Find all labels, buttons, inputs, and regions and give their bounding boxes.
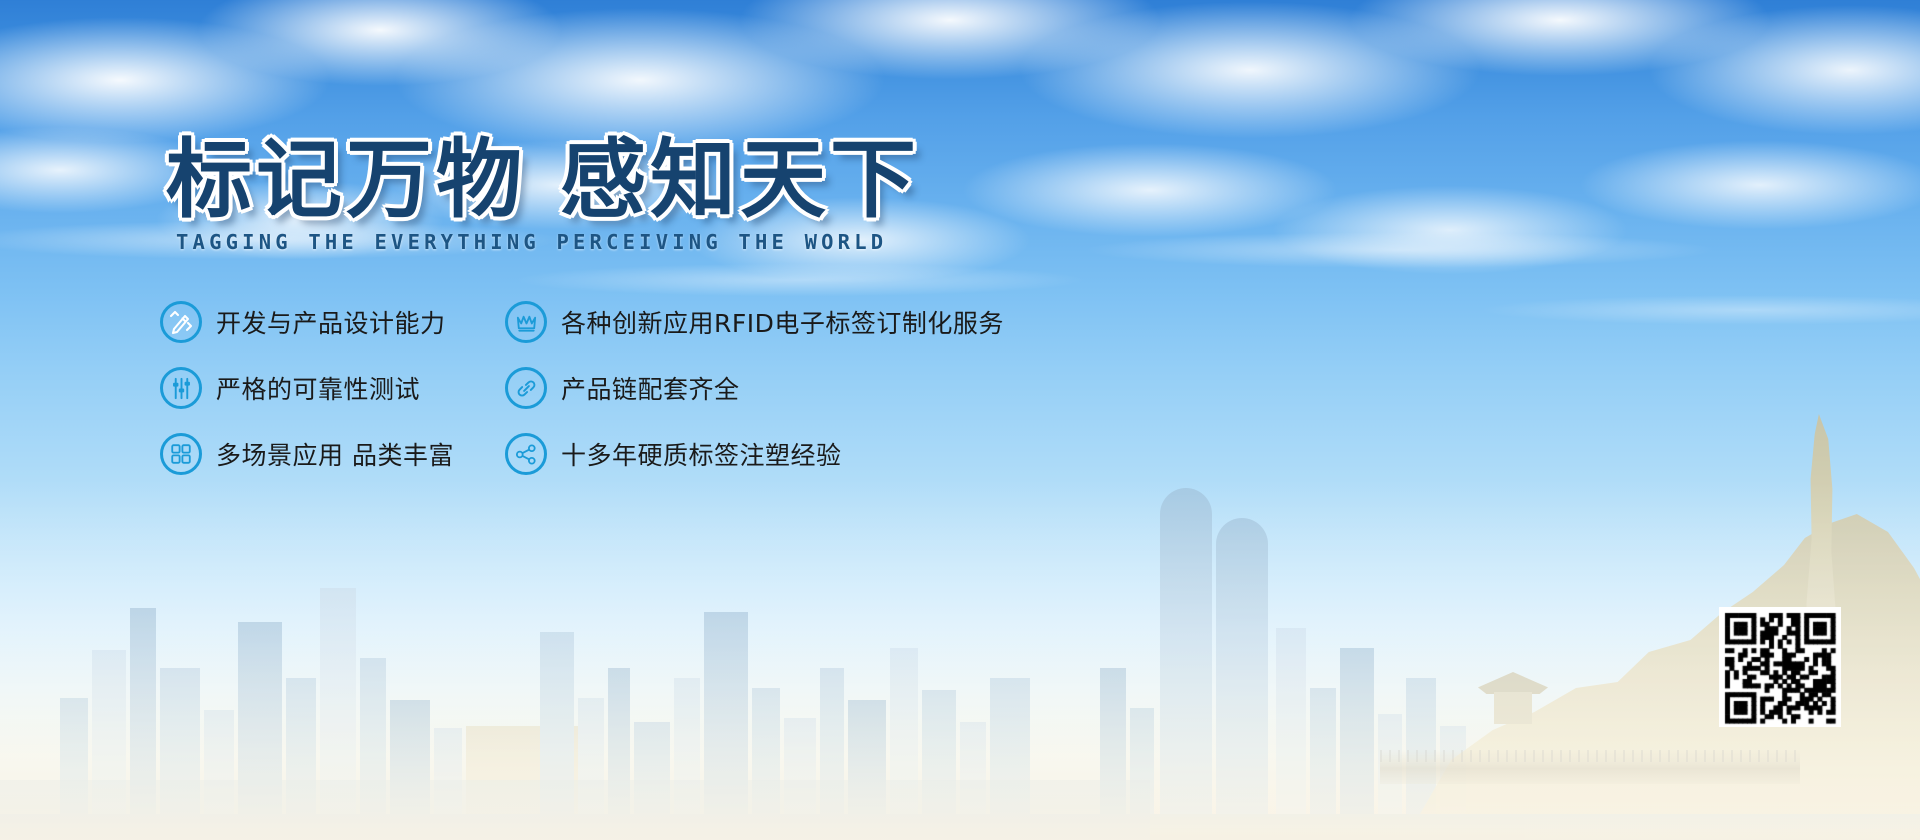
qr-code[interactable] bbox=[1719, 607, 1841, 727]
subtitle: TAGGING THE EVERYTHING PERCEIVING THE WO… bbox=[176, 230, 887, 254]
feature-label: 开发与产品设计能力 bbox=[216, 304, 446, 340]
feature-item-design: 开发与产品设计能力 bbox=[160, 301, 505, 343]
feature-item-supply-chain: 产品链配套齐全 bbox=[505, 367, 740, 409]
feature-label: 各种创新应用RFID电子标签订制化服务 bbox=[561, 304, 1004, 340]
banner-content: 标记万物 感知天下 TAGGING THE EVERYTHING PERCEIV… bbox=[0, 0, 1920, 840]
grid-squares-icon bbox=[160, 433, 202, 475]
crown-icon bbox=[505, 301, 547, 343]
share-nodes-icon bbox=[505, 433, 547, 475]
feature-row: 严格的可靠性测试 产品链配套齐全 bbox=[160, 356, 1160, 420]
feature-item-experience: 十多年硬质标签注塑经验 bbox=[505, 433, 842, 475]
feature-label: 十多年硬质标签注塑经验 bbox=[561, 436, 842, 472]
feature-item-rfid-custom: 各种创新应用RFID电子标签订制化服务 bbox=[505, 301, 1004, 343]
qr-code-canvas bbox=[1719, 607, 1841, 727]
pencil-ruler-icon bbox=[160, 301, 202, 343]
sliders-icon bbox=[160, 367, 202, 409]
feature-label: 多场景应用 品类丰富 bbox=[216, 436, 454, 472]
feature-row: 开发与产品设计能力 各种创新应用RFID电子标签订制化服务 bbox=[160, 290, 1160, 354]
page-title: 标记万物 感知天下 bbox=[166, 136, 920, 225]
promo-banner: 标记万物 感知天下 TAGGING THE EVERYTHING PERCEIV… bbox=[0, 0, 1920, 840]
feature-label: 产品链配套齐全 bbox=[561, 370, 740, 406]
feature-item-scenarios: 多场景应用 品类丰富 bbox=[160, 433, 505, 475]
chain-link-icon bbox=[505, 367, 547, 409]
feature-list: 开发与产品设计能力 各种创新应用RFID电子标签订制化服务 bbox=[160, 290, 1160, 488]
feature-label: 严格的可靠性测试 bbox=[216, 370, 420, 406]
feature-row: 多场景应用 品类丰富 bbox=[160, 422, 1160, 486]
feature-item-testing: 严格的可靠性测试 bbox=[160, 367, 505, 409]
